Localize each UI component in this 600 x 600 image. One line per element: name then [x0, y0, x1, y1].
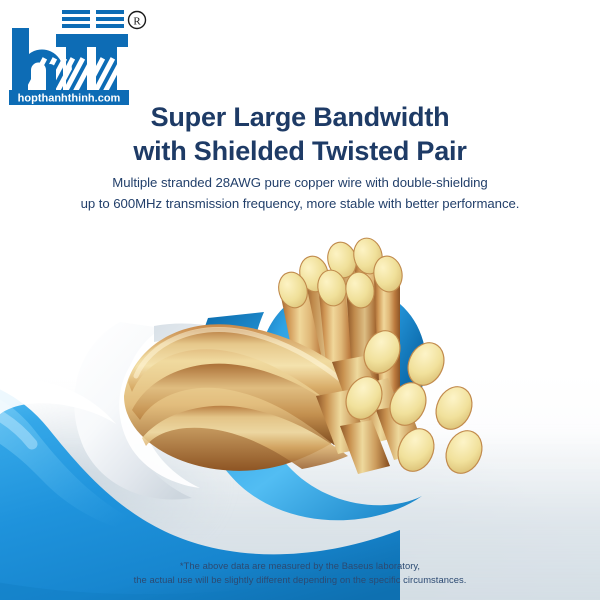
cable-sheath-tail	[0, 372, 144, 492]
footnote-disclaimer: *The above data are measured by the Base…	[0, 559, 600, 588]
disclaimer-line-1: *The above data are measured by the Base…	[180, 560, 420, 571]
disclaimer-line-2: the actual use will be slightly differen…	[0, 573, 600, 588]
product-illustration	[0, 0, 600, 600]
promo-banner: R	[0, 0, 600, 600]
